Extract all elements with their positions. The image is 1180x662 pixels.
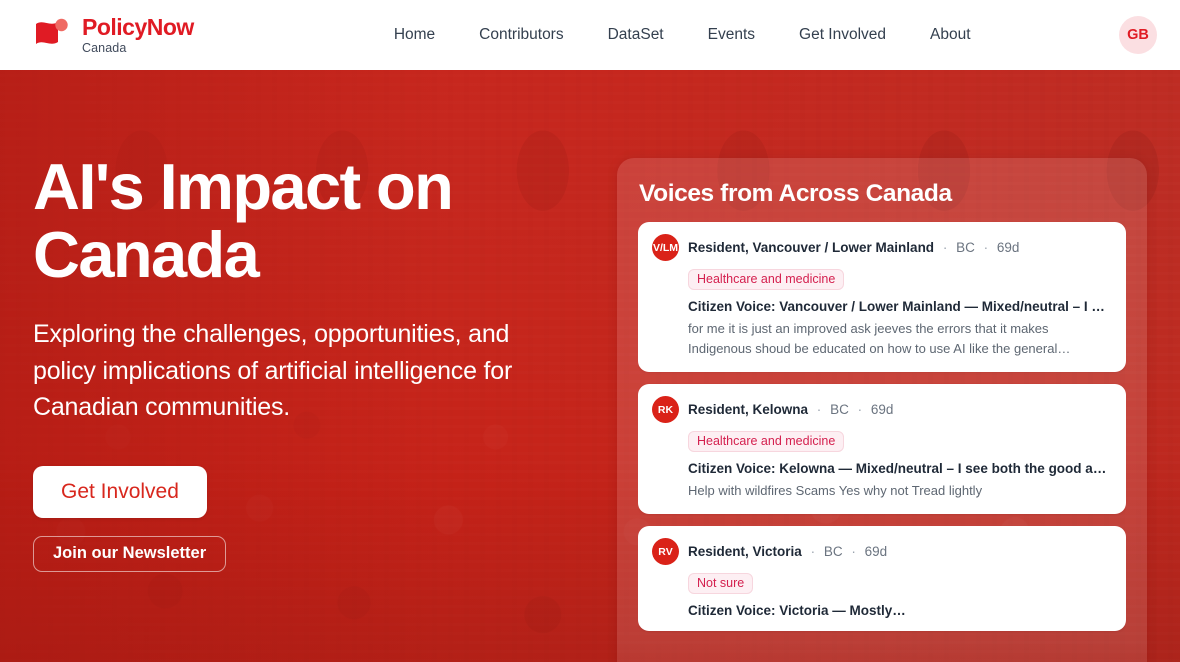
avatar: RV — [652, 538, 679, 565]
voice-title: Citizen Voice: Vancouver / Lower Mainlan… — [688, 299, 1112, 314]
avatar: V/LM — [652, 234, 679, 261]
province-label: BC — [830, 402, 849, 417]
age-label: 69d — [997, 240, 1020, 255]
avatar: RK — [652, 396, 679, 423]
voice-title: Citizen Voice: Kelowna — Mixed/neutral –… — [688, 461, 1112, 476]
meta-separator: · — [817, 402, 822, 417]
hero-subtitle: Exploring the challenges, opportunities,… — [33, 316, 548, 426]
meta-separator: · — [858, 402, 863, 417]
voice-body: for me it is just an improved ask jeeves… — [688, 319, 1112, 359]
hero-text-column: AI's Impact on Canada Exploring the chal… — [33, 153, 593, 572]
brand-logo[interactable]: PolicyNow Canada — [33, 16, 194, 55]
topic-tag[interactable]: Healthcare and medicine — [688, 269, 844, 290]
nav-item-events[interactable]: Events — [708, 26, 755, 44]
meta-separator: · — [943, 240, 948, 255]
voice-title: Citizen Voice: Victoria — Mostly… — [688, 603, 1112, 618]
list-item[interactable]: RV Resident, Victoria · BC · 69d Not sur… — [638, 526, 1126, 631]
nav-item-home[interactable]: Home — [394, 26, 435, 44]
brand-name: PolicyNow — [82, 16, 194, 39]
voices-list[interactable]: V/LM Resident, Vancouver / Lower Mainlan… — [638, 222, 1126, 662]
brand-country: Canada — [82, 42, 194, 55]
voices-panel-title: Voices from Across Canada — [639, 180, 1147, 208]
main-nav: Home Contributors DataSet Events Get Inv… — [394, 26, 971, 44]
topic-tag[interactable]: Healthcare and medicine — [688, 431, 844, 452]
hero-actions: Get Involved Join our Newsletter — [33, 466, 593, 572]
page-title: AI's Impact on Canada — [33, 153, 593, 288]
province-label: BC — [824, 544, 843, 559]
avatar[interactable]: GB — [1119, 16, 1157, 54]
nav-item-about[interactable]: About — [930, 26, 971, 44]
meta-separator: · — [811, 544, 816, 559]
contributor-name: Resident, Victoria — [688, 544, 802, 559]
nav-item-contributors[interactable]: Contributors — [479, 26, 563, 44]
join-newsletter-button[interactable]: Join our Newsletter — [33, 536, 226, 572]
list-item[interactable]: V/LM Resident, Vancouver / Lower Mainlan… — [638, 222, 1126, 372]
nav-item-dataset[interactable]: DataSet — [608, 26, 664, 44]
meta-separator: · — [851, 544, 856, 559]
age-label: 69d — [871, 402, 894, 417]
site-header: PolicyNow Canada Home Contributors DataS… — [0, 0, 1180, 70]
voices-footer-stat: 1,011 Canadians have shared their though… — [617, 642, 1147, 662]
list-item[interactable]: RK Resident, Kelowna · BC · 69d Healthca… — [638, 384, 1126, 514]
hero-section: AI's Impact on Canada Exploring the chal… — [0, 70, 1180, 662]
voice-body: Help with wildfires Scams Yes why not Tr… — [688, 481, 1112, 501]
voices-panel: Voices from Across Canada V/LM Resident,… — [617, 158, 1147, 662]
topic-tag[interactable]: Not sure — [688, 573, 753, 594]
contributor-name: Resident, Vancouver / Lower Mainland — [688, 240, 934, 255]
get-involved-button[interactable]: Get Involved — [33, 466, 207, 518]
nav-item-get-involved[interactable]: Get Involved — [799, 26, 886, 44]
contributor-name: Resident, Kelowna — [688, 402, 808, 417]
meta-separator: · — [984, 240, 989, 255]
waving-flag-icon — [33, 16, 73, 54]
age-label: 69d — [865, 544, 888, 559]
province-label: BC — [956, 240, 975, 255]
